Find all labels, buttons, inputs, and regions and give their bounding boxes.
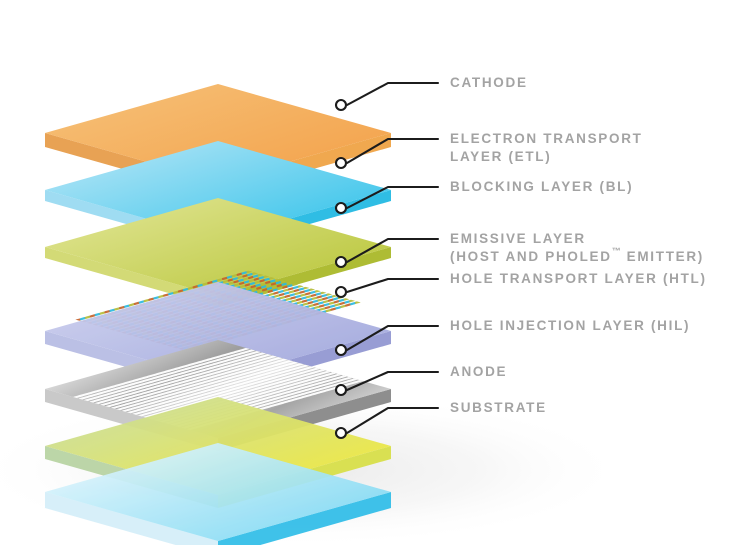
leader-marker-hil bbox=[336, 345, 346, 355]
oled-stack-diagram: CATHODEELECTRON TRANSPORTLAYER (ETL)BLOC… bbox=[0, 0, 739, 545]
leader-marker-anode bbox=[336, 385, 346, 395]
label-eml: EMISSIVE LAYER(HOST AND PHOLED™ EMITTER) bbox=[450, 231, 704, 264]
leader-marker-substrate bbox=[336, 428, 346, 438]
label-hil: HOLE INJECTION LAYER (HIL) bbox=[450, 318, 690, 333]
label-substrate: SUBSTRATE bbox=[450, 400, 547, 415]
leader-marker-eml bbox=[336, 257, 346, 267]
leader-marker-cathode bbox=[336, 100, 346, 110]
label-cathode: CATHODE bbox=[450, 75, 528, 90]
label-anode: ANODE bbox=[450, 364, 507, 379]
layer-labels: CATHODEELECTRON TRANSPORTLAYER (ETL)BLOC… bbox=[450, 75, 707, 415]
leader-marker-htl bbox=[336, 287, 346, 297]
label-etl: ELECTRON TRANSPORTLAYER (ETL) bbox=[450, 131, 643, 164]
diagram-canvas: CATHODEELECTRON TRANSPORTLAYER (ETL)BLOC… bbox=[0, 0, 739, 545]
leader-htl bbox=[336, 279, 438, 297]
label-htl: HOLE TRANSPORT LAYER (HTL) bbox=[450, 271, 707, 286]
leader-marker-bl bbox=[336, 203, 346, 213]
leader-marker-etl bbox=[336, 158, 346, 168]
leader-cathode bbox=[336, 83, 438, 110]
label-bl: BLOCKING LAYER (BL) bbox=[450, 179, 633, 194]
